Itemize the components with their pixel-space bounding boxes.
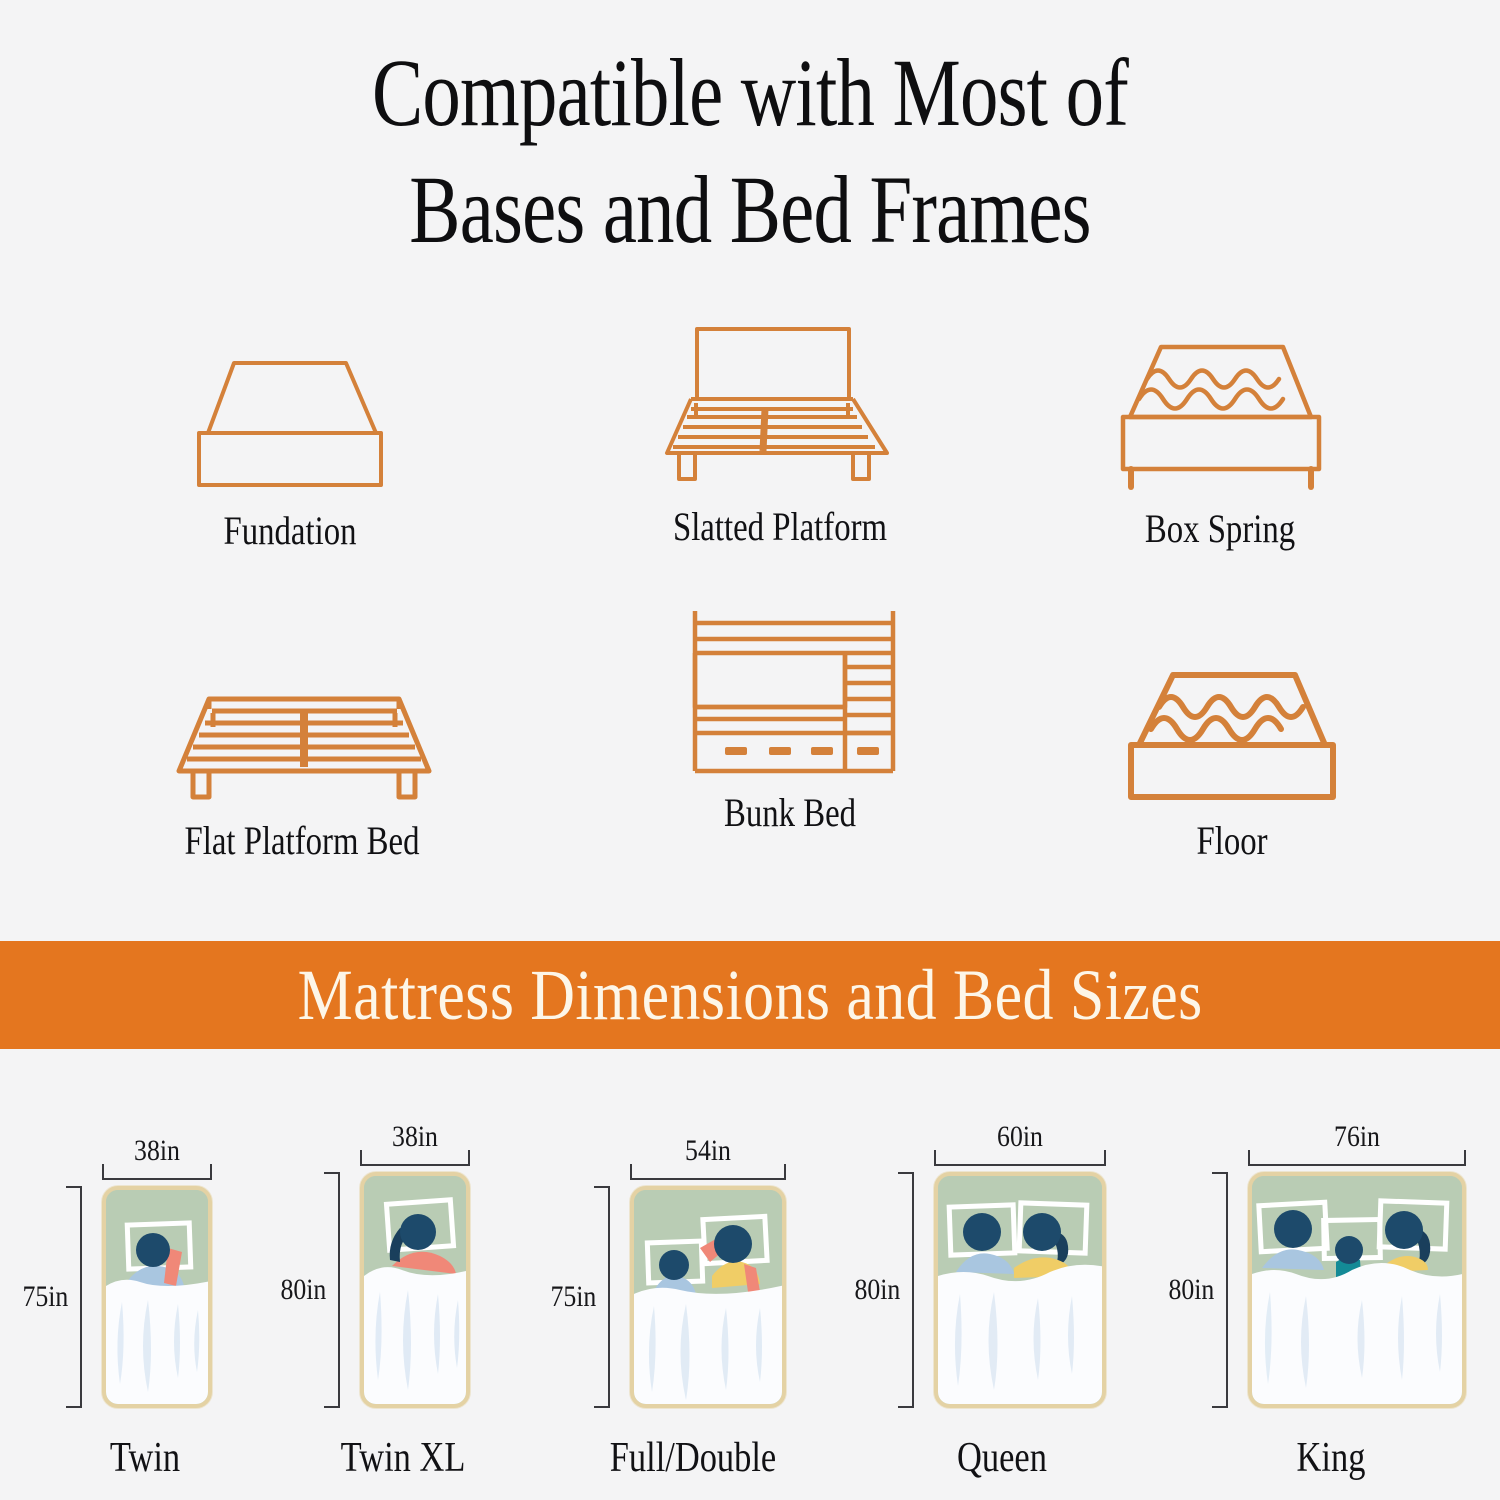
width-value: 38in [368, 1120, 463, 1154]
dimension-tick-right [784, 1164, 786, 1180]
height-value: 80in [280, 1273, 326, 1307]
dimension-tick-bottom [66, 1406, 82, 1408]
dimension-tick-right [1464, 1150, 1466, 1166]
size-name: King [1196, 1434, 1467, 1482]
height-dimension: 80in [1210, 1172, 1228, 1408]
height-dimension: 75in [592, 1186, 610, 1408]
dimension-bar [912, 1172, 914, 1408]
page-title-line-1: Compatible with Most of [150, 34, 1350, 151]
dimension-tick-right [468, 1150, 470, 1166]
dimension-bar [102, 1178, 212, 1180]
height-dimension: 80in [896, 1172, 914, 1408]
flat-platform-bed-icon [82, 630, 522, 805]
base-item-floor: Floor [1012, 630, 1452, 864]
size-name: Queen [879, 1434, 1125, 1482]
base-item-slatted-platform: Slatted Platform [560, 316, 1000, 550]
dimension-tick-bottom [1212, 1406, 1228, 1408]
mattress-king [1248, 1172, 1466, 1408]
dimension-bar [80, 1186, 82, 1408]
width-value: 38in [110, 1134, 205, 1168]
size-name: Full/Double [574, 1434, 812, 1482]
section-banner: Mattress Dimensions and Bed Sizes [0, 941, 1500, 1049]
width-dimension: 38in [102, 1146, 212, 1180]
height-value: 75in [550, 1280, 596, 1314]
height-value: 80in [1168, 1273, 1214, 1307]
mattress-full-double [630, 1186, 786, 1408]
size-item-twin-xl: 38in 80in [278, 1100, 528, 1500]
base-label: Fundation [110, 507, 471, 554]
size-name: Twin XL [301, 1434, 506, 1482]
base-label: Box Spring [1040, 505, 1401, 552]
dimension-tick-bottom [594, 1406, 610, 1408]
base-item-flat-platform-bed: Flat Platform Bed [82, 630, 522, 864]
slatted-platform-icon [560, 316, 1000, 491]
dimension-tick-bottom [898, 1406, 914, 1408]
base-label: Floor [1052, 817, 1413, 864]
width-dimension: 60in [934, 1132, 1106, 1166]
dimension-bar [1248, 1164, 1466, 1166]
width-value: 54in [641, 1134, 775, 1168]
dimension-tick-right [1104, 1150, 1106, 1166]
base-item-bunk-bed: Bunk Bed [570, 602, 1010, 836]
dimension-tick-top [66, 1186, 82, 1188]
dimension-tick-left [630, 1164, 632, 1180]
base-label: Flat Platform Bed [122, 817, 483, 864]
height-value: 80in [854, 1273, 900, 1307]
size-item-queen: 60in 80in [852, 1100, 1152, 1500]
bunk-bed-icon [570, 602, 1010, 777]
width-dimension: 54in [630, 1146, 786, 1180]
dimension-bar [630, 1178, 786, 1180]
dimension-bar [338, 1172, 340, 1408]
dimension-tick-left [102, 1164, 104, 1180]
width-dimension: 76in [1248, 1132, 1466, 1166]
size-item-full-double: 54in 75in [548, 1100, 838, 1500]
dimension-tick-left [360, 1150, 362, 1166]
dimension-tick-top [324, 1172, 340, 1174]
box-spring-icon [1000, 318, 1440, 493]
base-label: Slatted Platform [600, 503, 961, 550]
dimension-tick-top [594, 1186, 610, 1188]
dimension-tick-bottom [324, 1406, 340, 1408]
mattress-queen [934, 1172, 1106, 1408]
size-name: Twin [43, 1434, 248, 1482]
dimension-bar [934, 1164, 1106, 1166]
height-dimension: 80in [322, 1172, 340, 1408]
height-value: 75in [22, 1280, 68, 1314]
page-title-line-2: Bases and Bed Frames [150, 151, 1350, 268]
base-item-foundation: Fundation [70, 320, 510, 554]
dimension-bar [1226, 1172, 1228, 1408]
dimension-bar [608, 1186, 610, 1408]
size-item-king: 76in 80in [1166, 1100, 1496, 1500]
width-value: 76in [1263, 1120, 1450, 1154]
dimension-tick-left [934, 1150, 936, 1166]
dimension-tick-left [1248, 1150, 1250, 1166]
bases-icon-grid: Fundation [0, 310, 1500, 910]
mattress-twin-xl [360, 1172, 470, 1408]
page-title: Compatible with Most of Bases and Bed Fr… [150, 34, 1350, 268]
floor-icon [1012, 630, 1452, 805]
height-dimension: 75in [64, 1186, 82, 1408]
width-dimension: 38in [360, 1132, 470, 1166]
base-item-box-spring: Box Spring [1000, 318, 1440, 552]
width-value: 60in [946, 1120, 1094, 1154]
banner-title: Mattress Dimensions and Bed Sizes [297, 954, 1202, 1037]
mattress-twin [102, 1186, 212, 1408]
dimension-tick-top [898, 1172, 914, 1174]
size-item-twin: 38in 75in [20, 1100, 270, 1500]
dimension-tick-right [210, 1164, 212, 1180]
dimension-tick-top [1212, 1172, 1228, 1174]
foundation-icon [70, 320, 510, 495]
base-label: Bunk Bed [610, 789, 971, 836]
dimension-bar [360, 1164, 470, 1166]
mattress-sizes-section: 38in 75in [0, 1100, 1500, 1500]
